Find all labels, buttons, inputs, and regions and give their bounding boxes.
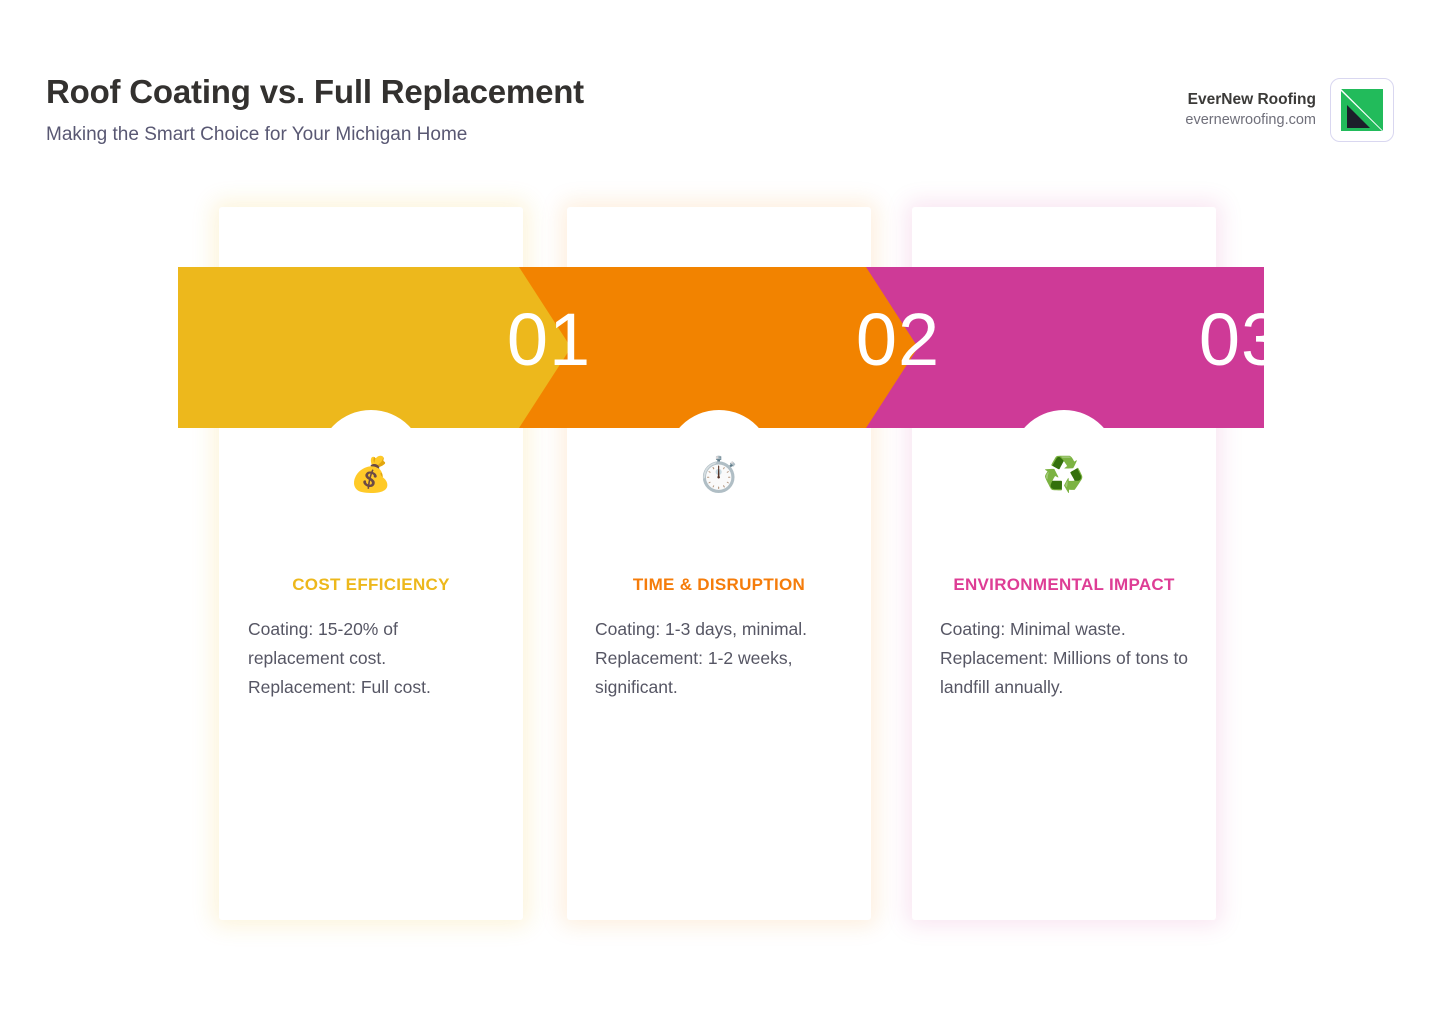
step-card-2-body: Coating: 1-3 days, minimal. Replacement:… <box>593 615 845 702</box>
step-number-1: 01 <box>449 295 649 385</box>
step-card-3-body: Coating: Minimal waste. Replacement: Mil… <box>938 615 1190 702</box>
step-number-3: 03 <box>1141 295 1341 385</box>
step-chevron-band: 01 02 03 <box>178 267 1264 428</box>
recycling-icon: ♻️ <box>1043 455 1085 495</box>
step-number-2: 02 <box>798 295 998 385</box>
stopwatch-icon: ⏱️ <box>698 455 740 495</box>
infographic-page: Roof Coating vs. Full Replacement Making… <box>0 0 1440 1024</box>
step-card-3-heading: ENVIRONMENTAL IMPACT <box>953 570 1174 599</box>
step-card-3-content: ♻️ ENVIRONMENTAL IMPACT Coating: Minimal… <box>912 455 1216 920</box>
step-card-1-body: Coating: 15-20% of replacement cost. Rep… <box>245 615 497 702</box>
step-card-1-content: 💰 COST EFFICIENCY Coating: 15-20% of rep… <box>219 455 523 920</box>
money-bag-icon: 💰 <box>350 455 392 495</box>
step-card-1-heading: COST EFFICIENCY <box>292 570 450 599</box>
step-card-2-heading: TIME & DISRUPTION <box>633 570 805 599</box>
steps-container: 💰 COST EFFICIENCY Coating: 15-20% of rep… <box>0 0 1440 1024</box>
step-card-2-content: ⏱️ TIME & DISRUPTION Coating: 1-3 days, … <box>567 455 871 920</box>
